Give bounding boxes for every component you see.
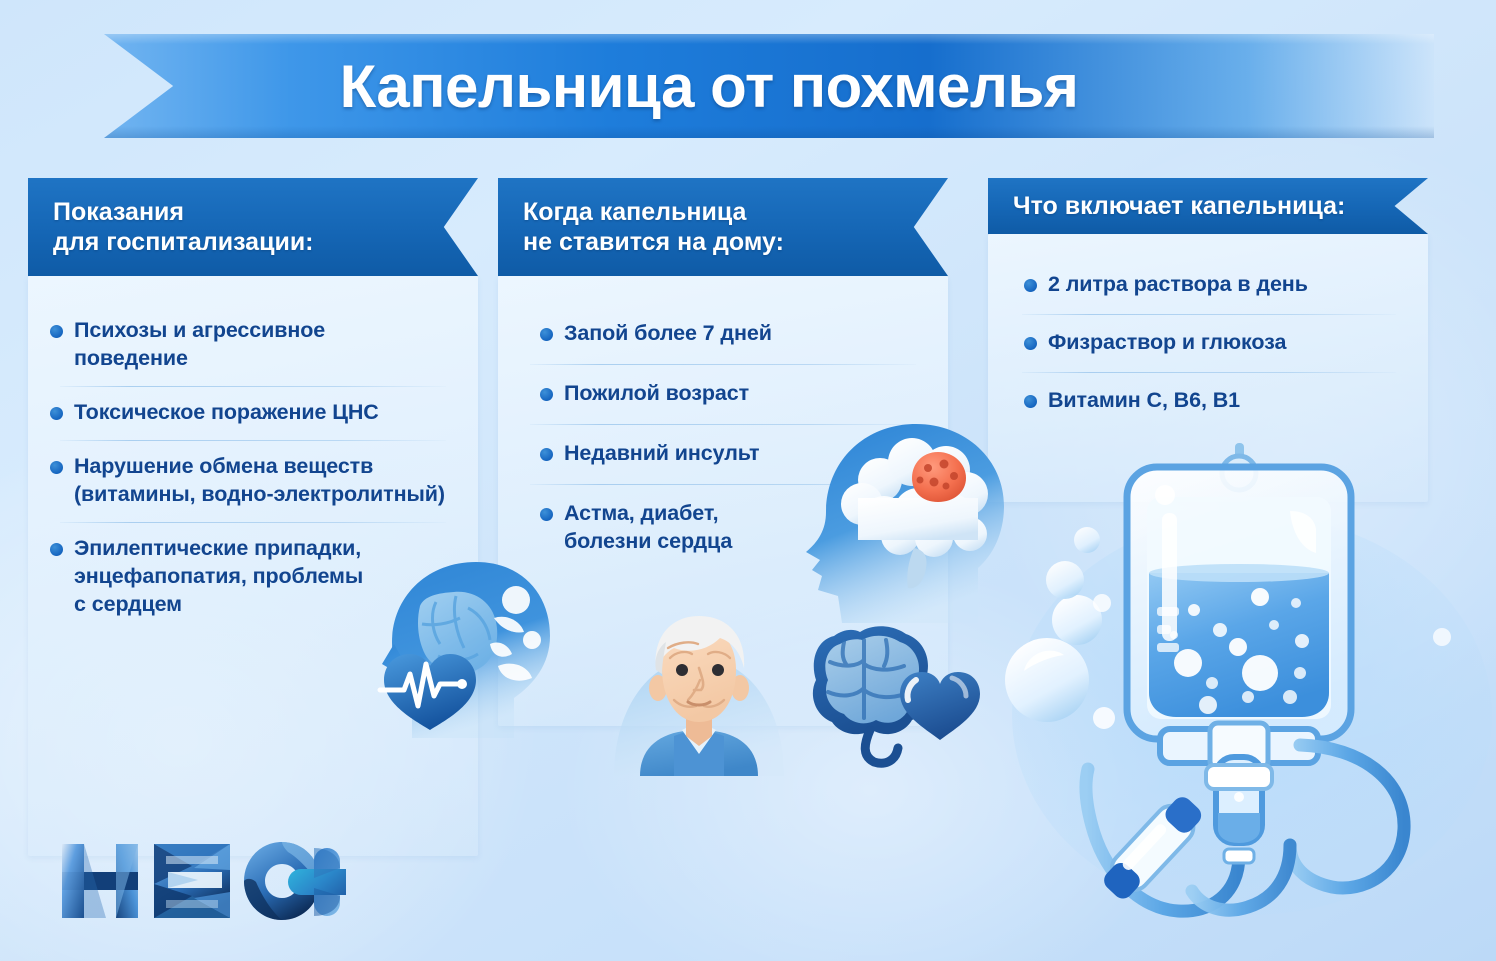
bullet-icon — [50, 543, 63, 556]
title-banner-shadow — [104, 126, 1434, 138]
list-item-label: Недавний инсульт — [564, 440, 759, 468]
panel-body: Запой более 7 дней Пожилой возраст Недав… — [498, 276, 948, 726]
infographic-canvas: Капельница от похмелья Психозы и агресси… — [0, 0, 1496, 961]
panel-body: 2 литра раствора в день Физраствор и глю… — [988, 234, 1428, 502]
list-item: Физраствор и глюкоза — [1010, 314, 1410, 372]
bullet-icon — [50, 461, 63, 474]
list-item: Запой более 7 дней — [518, 304, 930, 364]
bullet-icon — [540, 388, 553, 401]
list-item-label: Астма, диабет, болезни сердца — [564, 500, 732, 556]
list-item-label: Витамин С, В6, В1 — [1048, 387, 1240, 415]
list-item: Астма, диабет, болезни сердца — [518, 484, 930, 572]
list-item: Психозы и агрессивное поведение — [48, 304, 460, 386]
title-banner: Капельница от похмелья — [104, 34, 1434, 138]
panel-heading-ribbon: Показания для госпитализации: — [28, 178, 478, 276]
page-title: Капельница от похмелья — [340, 52, 1079, 121]
bullet-icon — [540, 328, 553, 341]
list-item-label: 2 литра раствора в день — [1048, 271, 1308, 299]
list-item: Витамин С, В6, В1 — [1010, 372, 1410, 430]
bullet-icon — [50, 325, 63, 338]
iv-drip-bag-icon — [1002, 425, 1496, 961]
panel-heading-ribbon: Когда капельница не ставится на дому: — [498, 178, 948, 276]
panel-heading-label: Что включает капельница: — [988, 191, 1345, 222]
list-indications: Психозы и агрессивное поведение Токсичес… — [28, 276, 478, 632]
panel-heading-label: Показания для госпитализации: — [28, 197, 314, 258]
list-item-label: Эпилептические припадки, энцефапопатия, … — [74, 535, 363, 619]
list-item: 2 литра раствора в день — [1010, 256, 1410, 314]
bullet-icon — [1024, 337, 1037, 350]
list-item-label: Физраствор и глюкоза — [1048, 329, 1286, 357]
panel-heading-label: Когда капельница не ставится на дому: — [498, 197, 784, 258]
list-item: Пожилой возраст — [518, 364, 930, 424]
bullet-icon — [540, 508, 553, 521]
bullet-icon — [540, 448, 553, 461]
list-item-label: Токсическое поражение ЦНС — [74, 399, 379, 427]
list-item: Токсическое поражение ЦНС — [48, 386, 460, 440]
list-contraindications: Запой более 7 дней Пожилой возраст Недав… — [498, 276, 948, 572]
bullet-icon — [1024, 279, 1037, 292]
panel-body: Психозы и агрессивное поведение Токсичес… — [28, 276, 478, 856]
list-item-label: Пожилой возраст — [564, 380, 749, 408]
list-item: Нарушение обмена веществ (витамины, водн… — [48, 440, 460, 522]
panel-heading-ribbon: Что включает капельница: — [988, 178, 1428, 234]
list-item-label: Нарушение обмена веществ (витамины, водн… — [74, 453, 445, 509]
title-banner-highlight — [104, 34, 1434, 44]
list-item-label: Психозы и агрессивное поведение — [74, 317, 325, 373]
bullet-icon — [50, 407, 63, 420]
brand-logo — [60, 840, 346, 922]
bullet-icon — [1024, 395, 1037, 408]
list-item: Недавний инсульт — [518, 424, 930, 484]
list-item-label: Запой более 7 дней — [564, 320, 772, 348]
list-item: Эпилептические припадки, энцефапопатия, … — [48, 522, 460, 632]
list-contents: 2 литра раствора в день Физраствор и глю… — [988, 234, 1428, 430]
